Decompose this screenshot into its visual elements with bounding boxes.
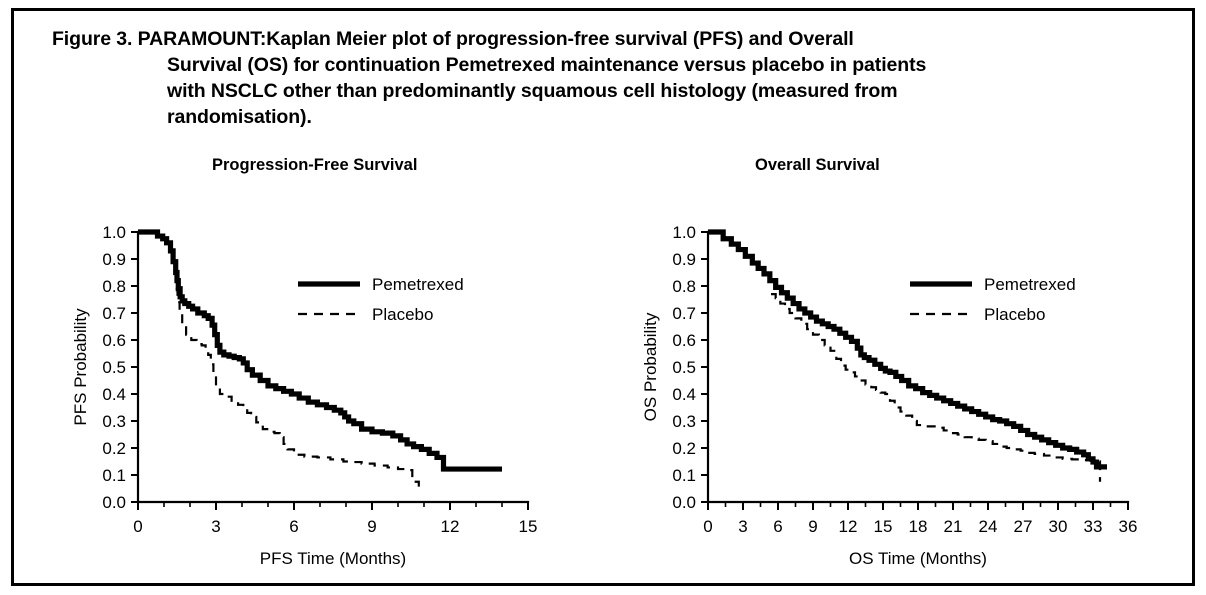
y-tick-label: 0.7 (672, 304, 696, 323)
x-tick-label: 24 (979, 517, 998, 536)
legend-label-placebo: Placebo (372, 305, 433, 324)
y-tick-label: 0.6 (102, 331, 126, 350)
y-tick-label: 1.0 (102, 223, 126, 242)
y-tick-label: 0.2 (672, 439, 696, 458)
x-tick-label: 0 (133, 517, 142, 536)
y-tick-label: 1.0 (672, 223, 696, 242)
y-tick-label: 0.1 (102, 466, 126, 485)
x-tick-label: 18 (909, 517, 928, 536)
y-tick-label: 0.6 (672, 331, 696, 350)
x-tick-label: 12 (839, 517, 858, 536)
x-axis-title: OS Time (Months) (849, 549, 987, 568)
panel-progression-free-survival: Progression-Free Survival 0.00.10.20.30.… (60, 148, 580, 578)
y-tick-label: 0.5 (102, 358, 126, 377)
y-tick-label: 0.4 (672, 385, 696, 404)
caption-line-1: Figure 3. PARAMOUNT:Kaplan Meier plot of… (52, 26, 1162, 52)
panel-overall-survival: Overall Survival 0.00.10.20.30.40.50.60.… (620, 148, 1180, 578)
y-axis-title: OS Probability (641, 312, 660, 421)
axis-lines (138, 232, 528, 502)
y-tick-label: 0.3 (102, 412, 126, 431)
y-tick-label: 0.7 (102, 304, 126, 323)
x-tick-label: 6 (289, 517, 298, 536)
y-tick-label: 0.8 (102, 277, 126, 296)
chart-pfs: 0.00.10.20.30.40.50.60.70.80.91.00369121… (60, 148, 580, 578)
chart-os: 0.00.10.20.30.40.50.60.70.80.91.00369121… (620, 148, 1180, 578)
x-tick-label: 36 (1119, 517, 1138, 536)
caption-line-2: Survival (OS) for continuation Pemetrexe… (52, 52, 1162, 78)
y-tick-label: 0.0 (672, 493, 696, 512)
legend-label-pemetrexed: Pemetrexed (984, 275, 1076, 294)
caption-line-3: with NSCLC other than predominantly squa… (52, 78, 1162, 104)
y-tick-label: 0.8 (672, 277, 696, 296)
y-tick-label: 0.0 (102, 493, 126, 512)
y-tick-label: 0.5 (672, 358, 696, 377)
legend-label-placebo: Placebo (984, 305, 1045, 324)
caption-line-4: randomisation). (52, 104, 1162, 130)
x-tick-label: 6 (773, 517, 782, 536)
x-tick-label: 15 (874, 517, 893, 536)
x-tick-label: 12 (441, 517, 460, 536)
figure-caption: Figure 3. PARAMOUNT:Kaplan Meier plot of… (52, 26, 1162, 130)
x-tick-label: 0 (703, 517, 712, 536)
y-tick-label: 0.2 (102, 439, 126, 458)
x-tick-label: 15 (519, 517, 538, 536)
x-tick-label: 21 (944, 517, 963, 536)
x-tick-label: 30 (1049, 517, 1068, 536)
x-tick-label: 27 (1014, 517, 1033, 536)
x-tick-label: 3 (211, 517, 220, 536)
y-tick-label: 0.9 (102, 250, 126, 269)
x-tick-label: 9 (808, 517, 817, 536)
x-axis-title: PFS Time (Months) (260, 549, 406, 568)
figure-container: Figure 3. PARAMOUNT:Kaplan Meier plot of… (0, 0, 1206, 595)
x-tick-label: 3 (738, 517, 747, 536)
legend-label-pemetrexed: Pemetrexed (372, 275, 464, 294)
curve-pemetrexed (708, 232, 1107, 467)
y-tick-label: 0.9 (672, 250, 696, 269)
x-tick-label: 9 (367, 517, 376, 536)
y-tick-label: 0.3 (672, 412, 696, 431)
y-axis-title: PFS Probability (71, 308, 90, 426)
y-tick-label: 0.1 (672, 466, 696, 485)
y-tick-label: 0.4 (102, 385, 126, 404)
curve-pemetrexed (138, 232, 502, 469)
x-tick-label: 33 (1084, 517, 1103, 536)
